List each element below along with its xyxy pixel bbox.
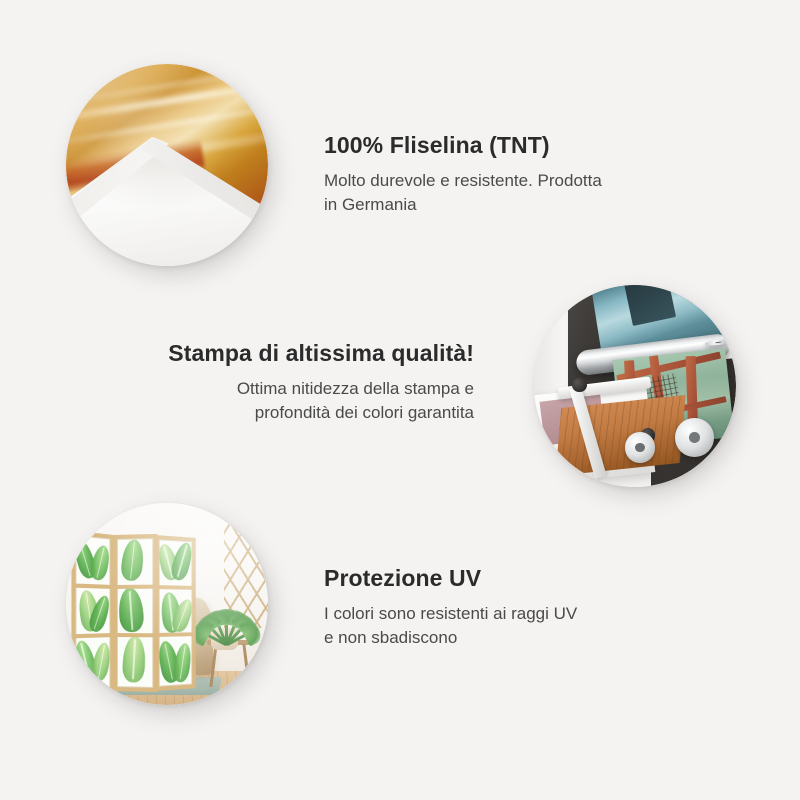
room-screen-illustration bbox=[66, 503, 268, 705]
feature-text-protezione-uv: Protezione UV I colori sono resistenti a… bbox=[324, 565, 704, 651]
printing-machine-illustration bbox=[534, 285, 736, 487]
machine-knob bbox=[572, 378, 586, 392]
light-haze bbox=[66, 503, 268, 705]
feature-description: Ottima nitidezza della stampa e profondi… bbox=[112, 377, 474, 426]
feature-title: Stampa di altissima qualità! bbox=[112, 340, 474, 368]
feature-title: 100% Fliselina (TNT) bbox=[324, 132, 704, 160]
machine-wheel bbox=[675, 418, 713, 456]
wallpaper-roll-image bbox=[66, 64, 268, 266]
wallpaper-roll-illustration bbox=[66, 64, 268, 266]
feature-description: Molto durevole e resistente. Prodotta in… bbox=[324, 169, 704, 218]
machine-wheel bbox=[625, 432, 655, 462]
printing-machine-image bbox=[534, 285, 736, 487]
feature-panel: 100% Fliselina (TNT) Molto durevole e re… bbox=[0, 0, 800, 800]
gloss-sheen bbox=[66, 64, 268, 266]
roller-end-cap bbox=[706, 338, 732, 345]
feature-text-fliselina: 100% Fliselina (TNT) Molto durevole e re… bbox=[324, 132, 704, 218]
feature-text-stampa-qualita: Stampa di altissima qualità! Ottima niti… bbox=[112, 340, 474, 426]
feature-description: I colori sono resistenti ai raggi UV e n… bbox=[324, 602, 704, 651]
feature-title: Protezione UV bbox=[324, 565, 704, 593]
room-screen-image bbox=[66, 503, 268, 705]
